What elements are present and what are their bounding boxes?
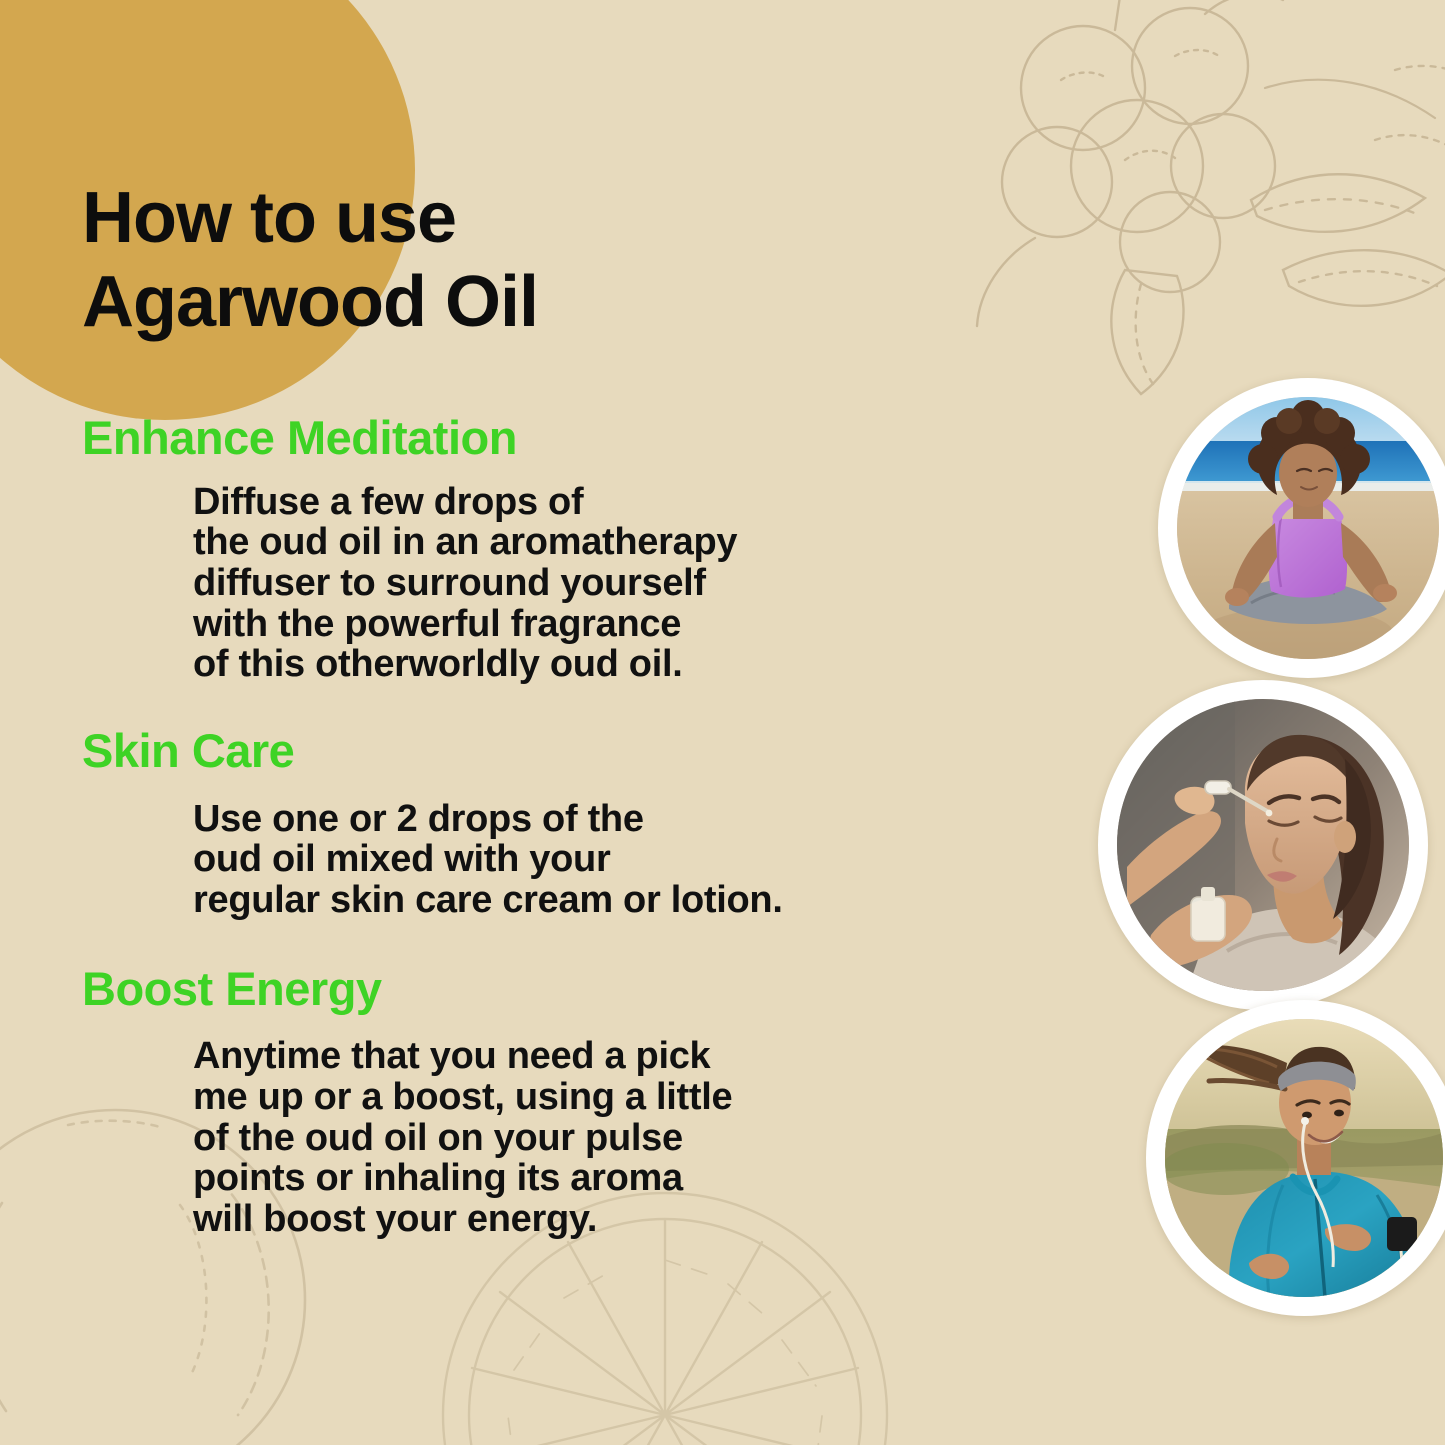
body-line: points or inhaling its aroma — [193, 1158, 983, 1199]
body-line: will boost your energy. — [193, 1199, 983, 1240]
body-line: diffuser to surround yourself — [193, 563, 983, 604]
section-heading: Boost Energy — [82, 963, 1010, 1015]
body-line: with the powerful fragrance — [193, 604, 983, 645]
section-skin-care: Skin Care Use one or 2 drops of the oud … — [0, 725, 1010, 921]
body-line: of the oud oil on your pulse — [193, 1118, 983, 1159]
infographic-canvas: How to use Agarwood Oil Enhance Meditati… — [0, 0, 1445, 1445]
body-line: the oud oil in an aromatherapy — [193, 522, 983, 563]
page-title: How to use Agarwood Oil — [82, 176, 842, 344]
section-body: Diffuse a few drops of the oud oil in an… — [193, 482, 983, 685]
body-line: Anytime that you need a pick — [193, 1036, 983, 1077]
title-line-1: How to use — [82, 176, 842, 260]
body-line: oud oil mixed with your — [193, 839, 983, 880]
running-photo — [1146, 1000, 1445, 1316]
section-boost-energy: Boost Energy Anytime that you need a pic… — [0, 963, 1010, 1240]
section-body: Use one or 2 drops of the oud oil mixed … — [193, 799, 983, 921]
section-heading: Enhance Meditation — [82, 412, 1010, 464]
body-line: Use one or 2 drops of the — [193, 799, 983, 840]
meditation-photo — [1158, 378, 1445, 678]
botanical-watermark — [965, 0, 1445, 400]
title-line-2: Agarwood Oil — [82, 260, 842, 344]
body-line: me up or a boost, using a little — [193, 1077, 983, 1118]
running-photo-image — [1165, 1019, 1443, 1297]
skincare-photo — [1098, 680, 1428, 1010]
body-line: of this otherworldly oud oil. — [193, 644, 983, 685]
meditation-photo-image — [1177, 397, 1439, 659]
body-line: Diffuse a few drops of — [193, 482, 983, 523]
body-line: regular skin care cream or lotion. — [193, 880, 983, 921]
section-body: Anytime that you need a pick me up or a … — [193, 1036, 983, 1239]
section-heading: Skin Care — [82, 725, 1010, 777]
usage-sections: Enhance Meditation Diffuse a few drops o… — [0, 400, 1010, 1246]
section-enhance-meditation: Enhance Meditation Diffuse a few drops o… — [0, 412, 1010, 685]
skincare-photo-image — [1117, 699, 1409, 991]
